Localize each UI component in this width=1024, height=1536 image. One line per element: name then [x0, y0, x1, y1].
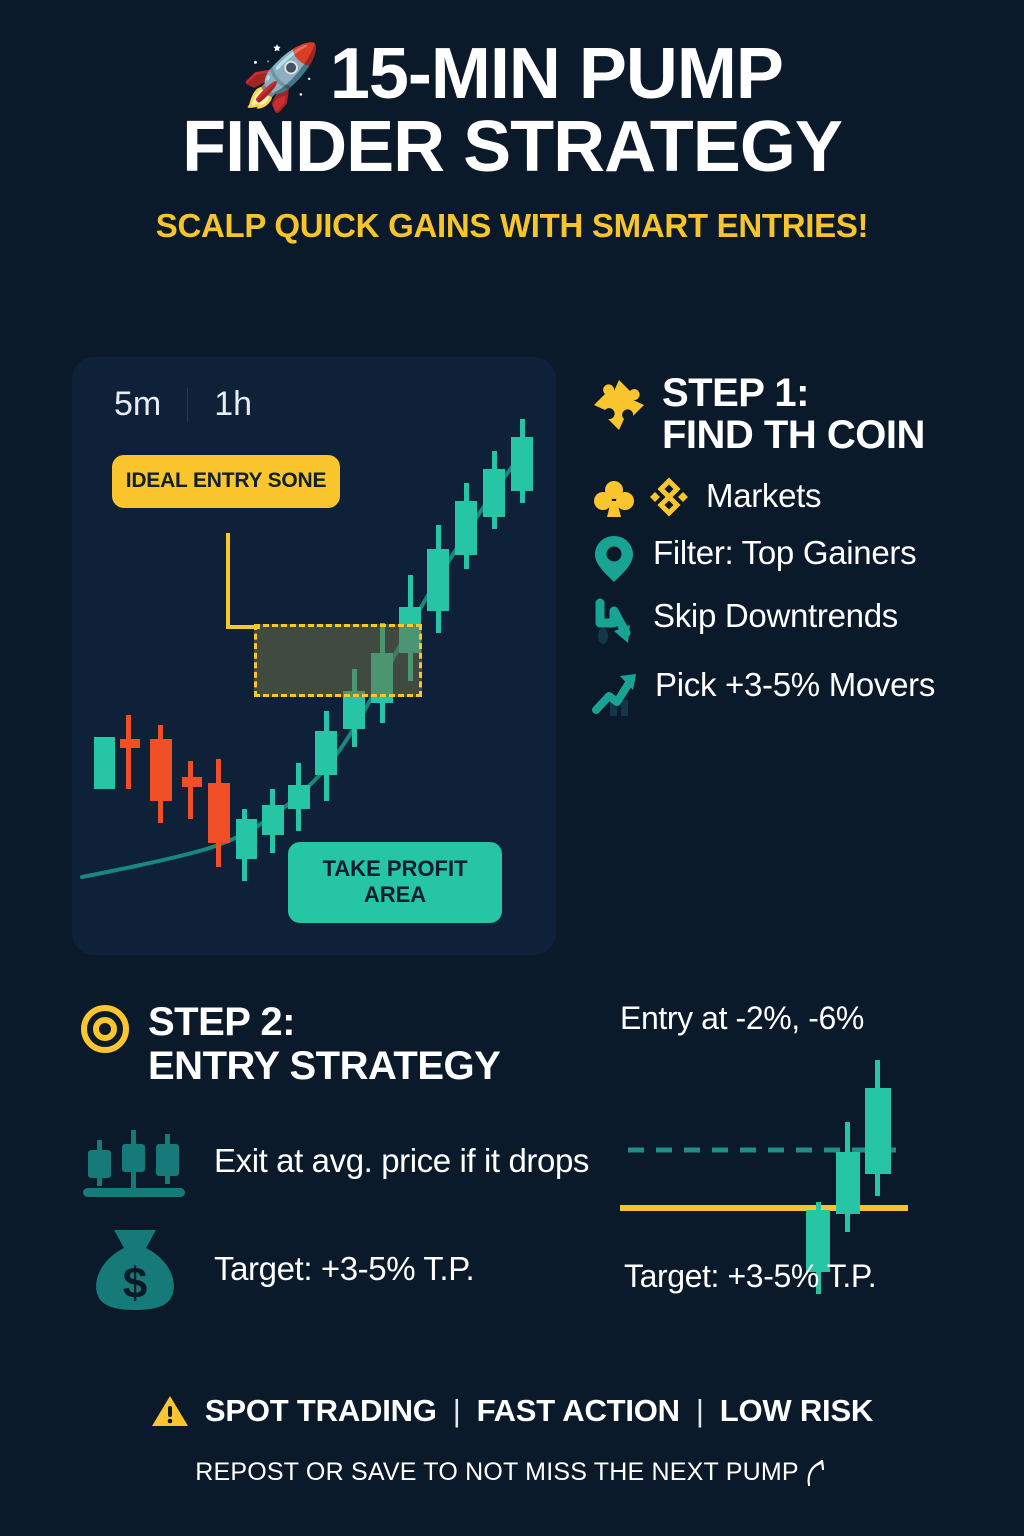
step-1-title-1: STEP 1:	[662, 372, 925, 414]
footer: SPOT TRADING | FAST ACTION | LOW RISK RE…	[0, 1393, 1024, 1487]
list-item-skip-label: Skip Downtrends	[653, 597, 898, 635]
page-title-line-1: 🚀 15-MIN PUMP	[0, 38, 1024, 111]
footer-tag-spot-trading: SPOT TRADING	[205, 1393, 437, 1429]
take-profit-area-badge: TAKE PROFIT AREA	[288, 842, 502, 923]
list-item-target-label: Target: +3-5% T.P.	[214, 1250, 474, 1287]
target-icon	[80, 1004, 130, 1054]
ideal-entry-zone-box	[254, 624, 422, 697]
candlestick-chart-icon	[80, 1122, 190, 1200]
list-item-filter-top-gainers: Filter: Top Gainers	[592, 534, 1012, 584]
footer-separator-1: |	[453, 1393, 461, 1429]
list-item-exit-avg-price: Exit at avg. price if it drops	[80, 1122, 610, 1200]
location-pin-icon	[592, 534, 636, 584]
ideal-entry-zone-badge: IDEAL ENTRY SONE	[112, 455, 340, 508]
money-bag-icon: $	[80, 1226, 190, 1312]
downtrend-arrow-icon	[592, 597, 636, 653]
binance-logo-icon	[649, 477, 689, 517]
warning-triangle-icon	[151, 1394, 189, 1428]
list-item-exit-label: Exit at avg. price if it drops	[214, 1142, 589, 1179]
puzzle-diamond-icon	[592, 378, 646, 432]
step-1-list: Markets Filter: Top Gainers Skip Downtre…	[592, 477, 1012, 718]
footer-cta-text: REPOST OR SAVE TO NOT MISS THE NEXT PUMP	[195, 1458, 799, 1487]
entry-mini-chart: Entry at -2%, -6% Target: +3-5% T.P.	[620, 1000, 980, 1340]
step-1-title-2: FIND TH COIN	[662, 414, 925, 456]
mini-chart-entry-label: Entry at -2%, -6%	[620, 1000, 980, 1037]
list-item-movers-label: Pick +3-5% Movers	[655, 666, 935, 704]
list-item-markets-label: Markets	[706, 477, 821, 515]
footer-separator-2: |	[696, 1393, 704, 1429]
step-2-heading-text: STEP 2: ENTRY STRATEGY	[148, 1000, 500, 1088]
list-item-filter-label: Filter: Top Gainers	[653, 534, 916, 572]
list-item-target-tp: $ Target: +3-5% T.P.	[80, 1226, 610, 1312]
list-item-markets: Markets	[592, 477, 1012, 521]
curved-up-arrow-icon	[803, 1457, 829, 1487]
mini-chart-target-label: Target: +3-5% T.P.	[624, 1258, 876, 1294]
step-1-heading-text: STEP 1: FIND TH COIN	[662, 372, 925, 457]
step-1-section: STEP 1: FIND TH COIN	[592, 372, 1012, 718]
step-2-title-1: STEP 2:	[148, 1000, 500, 1044]
page-title-line-2: FINDER STRATEGY	[0, 111, 1024, 184]
step-2-section: STEP 2: ENTRY STRATEGY Exit	[80, 1000, 610, 1312]
club-suit-icon	[592, 477, 636, 521]
title-text-1: 15-MIN PUMP	[330, 38, 783, 111]
footer-tag-low-risk: LOW RISK	[720, 1393, 873, 1429]
rocket-emoji-icon: 🚀	[241, 45, 320, 109]
step-2-heading: STEP 2: ENTRY STRATEGY	[80, 1000, 610, 1088]
main-chart-panel: 5m 1h	[72, 357, 556, 955]
step-2-list: Exit at avg. price if it drops $ Target:…	[80, 1122, 610, 1312]
step-1-heading: STEP 1: FIND TH COIN	[592, 372, 1012, 457]
footer-tags: SPOT TRADING | FAST ACTION | LOW RISK	[0, 1393, 1024, 1429]
footer-cta: REPOST OR SAVE TO NOT MISS THE NEXT PUMP	[0, 1457, 1024, 1487]
infographic-page: 🚀 15-MIN PUMP FINDER STRATEGY SCALP QUIC…	[0, 0, 1024, 1536]
step-2-title-2: ENTRY STRATEGY	[148, 1044, 500, 1088]
header: 🚀 15-MIN PUMP FINDER STRATEGY SCALP QUIC…	[0, 38, 1024, 245]
list-item-skip-downtrends: Skip Downtrends	[592, 597, 1012, 653]
page-subtitle: SCALP QUICK GAINS WITH SMART ENTRIES!	[0, 207, 1024, 245]
list-item-pick-movers: Pick +3-5% Movers	[592, 666, 1012, 718]
uptrend-arrow-icon	[592, 666, 638, 718]
svg-text:$: $	[123, 1259, 147, 1308]
footer-tag-fast-action: FAST ACTION	[477, 1393, 680, 1429]
